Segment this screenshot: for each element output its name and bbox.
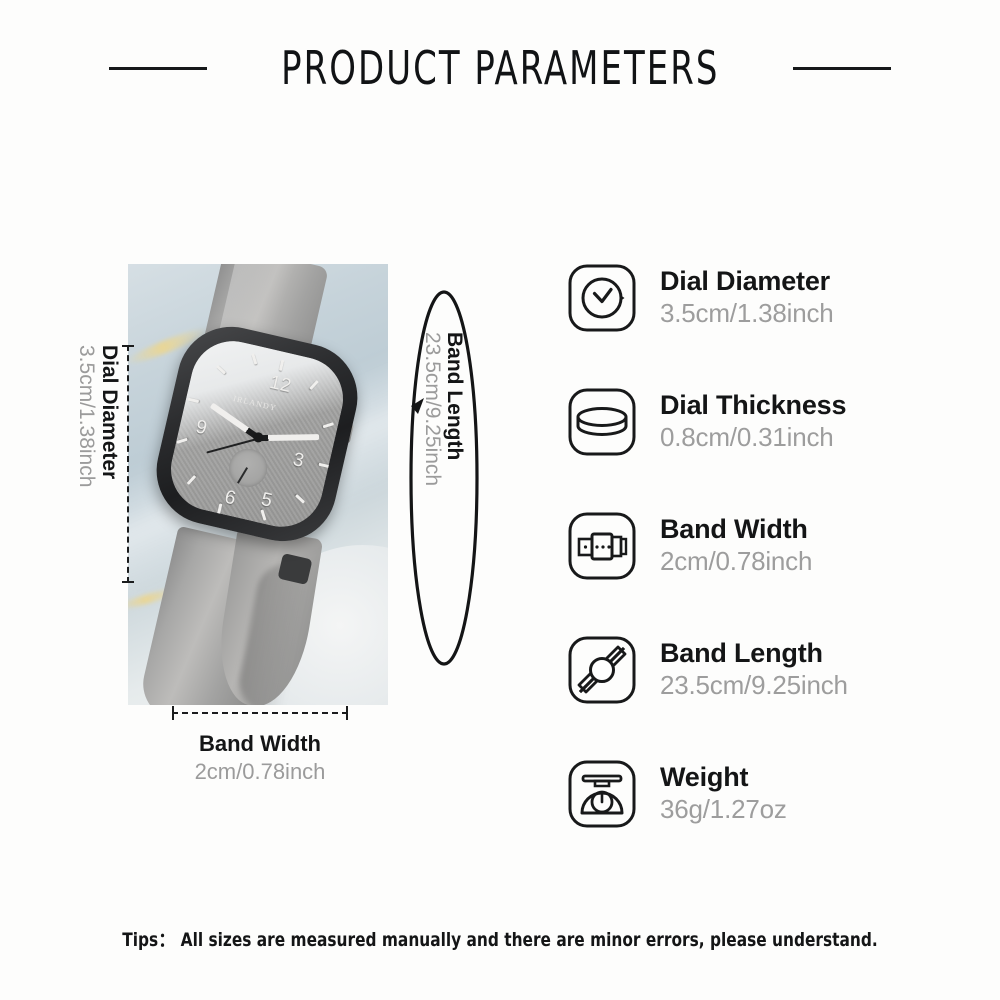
spec-row-band-width: Band Width 2cm/0.78inch — [566, 500, 966, 592]
annotation-value: 3.5cm/1.38inch — [76, 345, 97, 487]
dial-tick — [217, 503, 222, 514]
page-title: PRODUCT PARAMETERS — [281, 41, 719, 95]
measure-cap-bottom — [122, 581, 134, 583]
annotation-value: 2cm/0.78inch — [150, 758, 370, 787]
page-header: PRODUCT PARAMETERS — [0, 38, 1000, 98]
disc-thickness-icon — [566, 386, 638, 458]
spec-row-dial-thickness: Dial Thickness 0.8cm/0.31inch — [566, 376, 966, 468]
annotation-value: 23.5cm/9.25inch — [422, 332, 443, 486]
strap-length-icon — [566, 634, 638, 706]
dial-numeral-6: 6 — [222, 487, 237, 511]
spec-value: 2cm/0.78inch — [660, 546, 812, 577]
spec-row-weight: Weight 36g/1.27oz — [566, 748, 966, 840]
hands-center-cap — [252, 431, 264, 443]
spec-row-band-length: Band Length 23.5cm/9.25inch — [566, 624, 966, 716]
annotation-band-length: Band Length 23.5cm/9.25inch — [398, 278, 490, 678]
spec-label: Band Width — [660, 514, 812, 546]
annotation-dial-diameter: Dial Diameter 3.5cm/1.38inch — [34, 345, 134, 583]
spec-value: 23.5cm/9.25inch — [660, 670, 848, 701]
dial-numeral-3: 3 — [291, 449, 306, 473]
title-divider-right — [793, 67, 891, 70]
annotation-band-width: Band Width 2cm/0.78inch — [150, 706, 370, 786]
minute-hand — [257, 434, 319, 441]
measure-dash-line — [127, 345, 129, 583]
spec-value: 0.8cm/0.31inch — [660, 422, 846, 453]
annotation-label: Band Width — [150, 730, 370, 758]
dial-tick — [187, 475, 197, 485]
dial-tick — [295, 494, 305, 504]
spec-label: Weight — [660, 762, 787, 794]
spec-label: Dial Diameter — [660, 266, 834, 298]
measure-dash-line — [172, 712, 348, 714]
dial-tick — [323, 422, 334, 428]
spec-value: 3.5cm/1.38inch — [660, 298, 834, 329]
dial-numeral-5: 5 — [259, 489, 274, 513]
measure-line-vertical — [122, 345, 134, 583]
spec-row-dial-diameter: Dial Diameter 3.5cm/1.38inch — [566, 252, 966, 344]
measure-cap-right — [346, 706, 348, 720]
spec-value: 36g/1.27oz — [660, 794, 787, 825]
watch-dial: IRLANDY 12 3 5 6 9 — [163, 333, 352, 535]
watch-dial-icon — [566, 262, 638, 334]
product-photo: IRLANDY 12 3 5 6 9 — [128, 264, 388, 705]
specification-list: Dial Diameter 3.5cm/1.38inch Dial Thickn… — [566, 252, 966, 872]
title-divider-left — [109, 67, 207, 70]
annotation-label: Dial Diameter — [99, 345, 120, 479]
annotation-label: Band Length — [444, 332, 465, 460]
footer-tip-text: Tips： All sizes are measured manually an… — [50, 925, 950, 952]
spec-label: Dial Thickness — [660, 390, 846, 422]
buckle-width-icon — [566, 510, 638, 582]
kitchen-scale-icon — [566, 758, 638, 830]
spec-label: Band Length — [660, 638, 848, 670]
dial-tick — [318, 463, 329, 468]
measure-line-horizontal — [172, 706, 348, 720]
